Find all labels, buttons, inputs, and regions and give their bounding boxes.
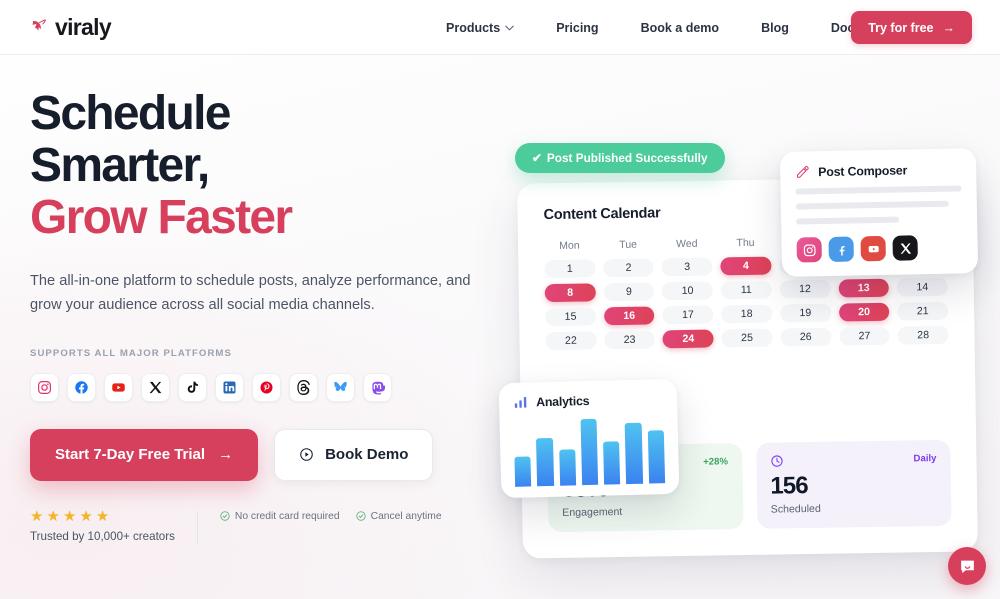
- analytics-bar: [648, 430, 666, 483]
- headline-line-2: Smarter,: [30, 139, 209, 192]
- composer-skeleton-line: [796, 217, 899, 225]
- clock-icon: [770, 454, 783, 467]
- star-icon: ★: [96, 509, 110, 524]
- chevron-down-icon: [505, 25, 514, 31]
- x-twitter-icon: [898, 241, 912, 255]
- platform-pinterest[interactable]: [252, 373, 281, 402]
- top-navigation-bar: viraly Products Pricing Book a demo Blog…: [0, 0, 1000, 55]
- calendar-day[interactable]: 14: [897, 278, 948, 297]
- check-circle-icon: [220, 511, 230, 521]
- analytics-bar: [536, 438, 553, 486]
- calendar-day[interactable]: 10: [662, 282, 713, 301]
- star-rating: ★ ★ ★ ★ ★: [30, 509, 175, 524]
- brand-name: viraly: [55, 14, 111, 41]
- tiktok-icon: [185, 380, 200, 395]
- calendar-day[interactable]: 11: [721, 281, 772, 300]
- calendar-day-header: Tue: [603, 238, 654, 253]
- calendar-day-scheduled[interactable]: 16: [604, 306, 655, 325]
- platform-x-twitter[interactable]: [141, 373, 170, 402]
- calendar-day-header: Mon: [544, 239, 595, 254]
- edit-pencil-icon: [795, 164, 810, 179]
- trust-row: ★ ★ ★ ★ ★ Trusted by 10,000+ creators No…: [30, 509, 490, 545]
- composer-chip-facebook[interactable]: [828, 236, 853, 261]
- calendar-day[interactable]: 19: [780, 304, 831, 323]
- divider: [197, 511, 198, 545]
- calendar-day[interactable]: 22: [545, 331, 596, 350]
- composer-chip-x-twitter[interactable]: [892, 235, 917, 260]
- calendar-day-header: Thu: [720, 237, 771, 252]
- analytics-bar: [580, 419, 598, 485]
- calendar-day[interactable]: 17: [662, 306, 713, 325]
- hero-section: Schedule Smarter, Grow Faster The all-in…: [30, 88, 490, 545]
- linkedin-icon: [222, 380, 237, 395]
- calendar-day[interactable]: 1: [544, 259, 595, 278]
- calendar-day-header: Wed: [661, 238, 712, 253]
- platform-threads[interactable]: [289, 373, 318, 402]
- star-icon: ★: [63, 509, 77, 524]
- calendar-day[interactable]: 27: [839, 327, 890, 346]
- instagram-icon: [802, 243, 816, 257]
- platform-instagram[interactable]: [30, 373, 59, 402]
- star-icon: ★: [46, 509, 60, 524]
- brand-logo[interactable]: viraly: [30, 14, 111, 41]
- arrow-right-icon: →: [218, 446, 233, 463]
- platform-bluesky[interactable]: [326, 373, 355, 402]
- mastodon-icon: [370, 380, 385, 395]
- analytics-card: Analytics: [499, 379, 680, 498]
- stat-card-scheduled: Daily 156 Scheduled: [756, 440, 952, 529]
- nav-link-products[interactable]: Products: [425, 0, 535, 55]
- calendar-day[interactable]: 21: [897, 302, 948, 321]
- stat-value-scheduled: 156: [770, 472, 937, 499]
- platform-youtube[interactable]: [104, 373, 133, 402]
- try-for-free-label: Try for free: [868, 21, 933, 35]
- bar-chart-icon: [513, 394, 528, 409]
- calendar-day-scheduled[interactable]: 24: [663, 330, 714, 349]
- platform-icons-row: [30, 373, 490, 402]
- nav-link-book-a-demo[interactable]: Book a demo: [620, 0, 741, 55]
- composer-chip-instagram[interactable]: [796, 237, 821, 262]
- chat-bubble-icon: [958, 557, 977, 576]
- analytics-bar: [559, 449, 576, 486]
- x-twitter-icon: [148, 380, 163, 395]
- post-composer-card: Post Composer: [780, 148, 978, 277]
- trust-checks: No credit card required Cancel anytime: [220, 509, 442, 522]
- trust-text: Trusted by 10,000+ creators: [30, 530, 175, 543]
- composer-platform-chips: [796, 234, 962, 262]
- calendar-day[interactable]: 3: [662, 258, 713, 277]
- calendar-day[interactable]: 18: [721, 305, 772, 324]
- star-icon: ★: [79, 509, 93, 524]
- hummingbird-logo-icon: [30, 16, 52, 38]
- arrow-right-icon: →: [943, 21, 956, 35]
- calendar-day[interactable]: 12: [779, 280, 830, 299]
- dashboard-mockup: ✔ Post Published Successfully Content Ca…: [495, 60, 1000, 599]
- headline-line-1: Schedule: [30, 87, 230, 140]
- trust-check-label: Cancel anytime: [371, 511, 442, 522]
- composer-skeleton-line: [796, 185, 962, 194]
- platform-tiktok[interactable]: [178, 373, 207, 402]
- post-composer-title: Post Composer: [818, 163, 907, 179]
- calendar-day[interactable]: 15: [545, 307, 596, 326]
- calendar-day-scheduled[interactable]: 20: [839, 303, 890, 322]
- start-free-trial-label: Start 7-Day Free Trial: [55, 446, 205, 463]
- nav-link-blog[interactable]: Blog: [740, 0, 810, 55]
- analytics-bar: [514, 457, 531, 487]
- trust-check-no-credit-card: No credit card required: [220, 511, 340, 522]
- nav-link-pricing[interactable]: Pricing: [535, 0, 619, 55]
- hero-subcopy: The all-in-one platform to schedule post…: [30, 270, 480, 317]
- check-circle-icon: [356, 511, 366, 521]
- analytics-bar-chart: [514, 417, 666, 487]
- stat-tag-engagement: +28%: [703, 456, 728, 467]
- calendar-day[interactable]: 2: [603, 258, 654, 277]
- pinterest-icon: [259, 380, 274, 395]
- trust-check-label: No credit card required: [235, 511, 340, 522]
- book-demo-button[interactable]: Book Demo: [274, 429, 433, 481]
- facebook-icon: [74, 380, 89, 395]
- calendar-day-scheduled[interactable]: 8: [545, 283, 596, 302]
- youtube-icon: [111, 380, 126, 395]
- nav-link-products-label: Products: [446, 21, 500, 35]
- check-icon: ✔: [532, 151, 542, 165]
- platform-facebook[interactable]: [67, 373, 96, 402]
- trust-rating-block: ★ ★ ★ ★ ★ Trusted by 10,000+ creators: [30, 509, 175, 543]
- calendar-day-scheduled[interactable]: 13: [838, 279, 889, 298]
- instagram-icon: [37, 380, 52, 395]
- bluesky-icon: [333, 380, 348, 395]
- analytics-title: Analytics: [536, 393, 590, 408]
- page-title: Schedule Smarter, Grow Faster: [30, 88, 490, 244]
- analytics-bar: [625, 423, 643, 484]
- composer-skeleton-line: [796, 201, 949, 210]
- hero-cta-row: Start 7-Day Free Trial → Book Demo: [30, 429, 490, 481]
- facebook-icon: [834, 242, 848, 256]
- youtube-icon: [866, 241, 880, 255]
- calendar-day[interactable]: 26: [780, 328, 831, 347]
- chat-widget-button[interactable]: [948, 547, 986, 585]
- analytics-bar: [603, 441, 620, 484]
- star-icon: ★: [30, 509, 44, 524]
- calendar-day[interactable]: 28: [898, 326, 949, 345]
- stat-label-scheduled: Scheduled: [771, 501, 938, 516]
- post-published-toast-label: Post Published Successfully: [547, 151, 708, 165]
- supports-label: SUPPORTS ALL MAJOR PLATFORMS: [30, 348, 490, 359]
- headline-accent-line: Grow Faster: [30, 191, 291, 244]
- composer-chip-youtube[interactable]: [860, 236, 885, 261]
- platform-linkedin[interactable]: [215, 373, 244, 402]
- play-circle-icon: [299, 447, 314, 462]
- calendar-day[interactable]: 25: [722, 329, 773, 348]
- calendar-day[interactable]: 23: [604, 330, 655, 349]
- calendar-day-scheduled[interactable]: 4: [720, 257, 771, 276]
- trust-check-cancel-anytime: Cancel anytime: [356, 511, 442, 522]
- stat-label-engagement: Engagement: [562, 504, 729, 519]
- stat-tag-scheduled: Daily: [913, 453, 936, 464]
- try-for-free-button[interactable]: Try for free →: [851, 11, 972, 44]
- threads-icon: [296, 380, 311, 395]
- book-demo-label: Book Demo: [325, 446, 408, 463]
- post-published-toast: ✔ Post Published Successfully: [515, 143, 725, 173]
- calendar-day[interactable]: 9: [603, 282, 654, 301]
- platform-mastodon[interactable]: [363, 373, 392, 402]
- start-free-trial-button[interactable]: Start 7-Day Free Trial →: [30, 429, 258, 481]
